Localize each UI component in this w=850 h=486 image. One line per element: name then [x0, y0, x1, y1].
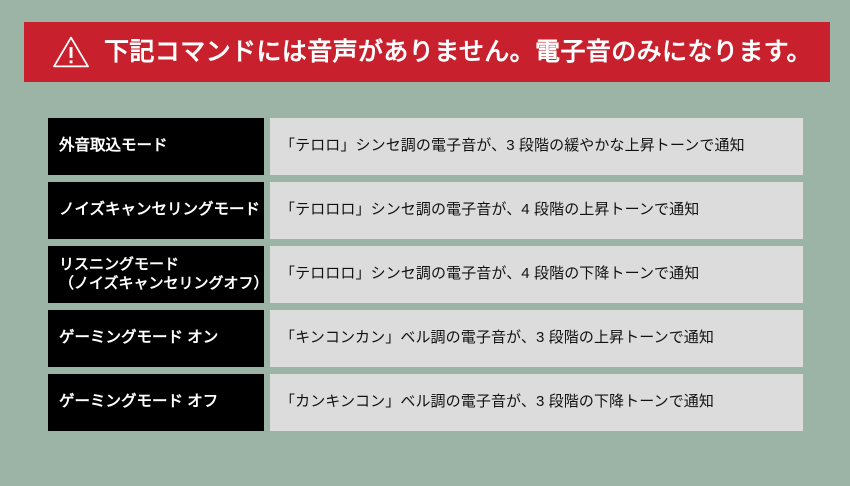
warning-banner-text: 下記コマンドには音声がありません。電子音のみになります。	[104, 40, 812, 65]
sound-description-text: 「キンコンカン」ベル調の電子音が、3 段階の上昇トーンで通知	[280, 329, 714, 348]
table-row: リスニングモード （ノイズキャンセリングオフ） 「テロロロ」シンセ調の電子音が、…	[48, 246, 803, 303]
mode-label-line1: ゲーミングモード オン	[59, 329, 258, 348]
table-row: ゲーミングモード オフ 「カンキンコン」ベル調の電子音が、3 段階の下降トーンで…	[48, 374, 803, 431]
sound-description-cell: 「テロロ」シンセ調の電子音が、3 段階の緩やかな上昇トーンで通知	[270, 118, 803, 175]
table-row: ノイズキャンセリングモード 「テロロロ」シンセ調の電子音が、4 段階の上昇トーン…	[48, 182, 803, 239]
sound-description-cell: 「テロロロ」シンセ調の電子音が、4 段階の上昇トーンで通知	[270, 182, 803, 239]
sound-description-text: 「テロロ」シンセ調の電子音が、3 段階の緩やかな上昇トーンで通知	[280, 137, 745, 156]
page-root: 下記コマンドには音声がありません。電子音のみになります。 外音取込モード 「テロ…	[0, 0, 850, 486]
table-row: ゲーミングモード オン 「キンコンカン」ベル調の電子音が、3 段階の上昇トーンで…	[48, 310, 803, 367]
sound-description-cell: 「テロロロ」シンセ調の電子音が、4 段階の下降トーンで通知	[270, 246, 803, 303]
sound-description-text: 「テロロロ」シンセ調の電子音が、4 段階の上昇トーンで通知	[280, 201, 699, 220]
mode-label-cell: リスニングモード （ノイズキャンセリングオフ）	[48, 246, 264, 303]
sound-description-cell: 「キンコンカン」ベル調の電子音が、3 段階の上昇トーンで通知	[270, 310, 803, 367]
mode-label-cell: ノイズキャンセリングモード	[48, 182, 264, 239]
mode-label-cell: ゲーミングモード オン	[48, 310, 264, 367]
sound-description-cell: 「カンキンコン」ベル調の電子音が、3 段階の下降トーンで通知	[270, 374, 803, 431]
sound-description-text: 「テロロロ」シンセ調の電子音が、4 段階の下降トーンで通知	[280, 265, 699, 284]
sound-description-text: 「カンキンコン」ベル調の電子音が、3 段階の下降トーンで通知	[280, 393, 714, 412]
mode-label-line1: 外音取込モード	[59, 137, 258, 156]
mode-label-line1: ゲーミングモード オフ	[59, 393, 258, 412]
mode-label-line1: リスニングモード	[59, 256, 258, 274]
mode-label-cell: ゲーミングモード オフ	[48, 374, 264, 431]
table-row: 外音取込モード 「テロロ」シンセ調の電子音が、3 段階の緩やかな上昇トーンで通知	[48, 118, 803, 175]
mode-label-cell: 外音取込モード	[48, 118, 264, 175]
warning-triangle-icon	[52, 35, 90, 69]
mode-label-line2: （ノイズキャンセリングオフ）	[59, 275, 258, 293]
sound-notification-table: 外音取込モード 「テロロ」シンセ調の電子音が、3 段階の緩やかな上昇トーンで通知…	[48, 118, 803, 431]
warning-banner: 下記コマンドには音声がありません。電子音のみになります。	[24, 22, 830, 82]
mode-label-line1: ノイズキャンセリングモード	[59, 201, 258, 220]
